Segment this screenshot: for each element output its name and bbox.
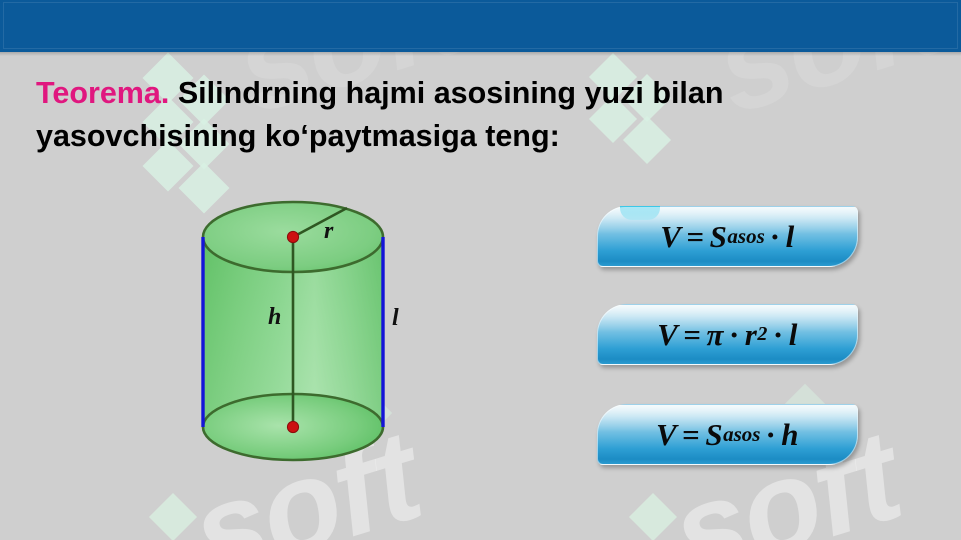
cylinder-svg [180,185,420,485]
formula-text-1: V = Sasos · l [598,207,857,266]
formula-1-base: S [710,219,728,255]
title-bar-inner-border [3,2,958,49]
cylinder-diagram: r h l [180,185,420,485]
formula-text-3: V = Sasos · h [598,405,857,464]
formula-box-3: V = Sasos · h [597,404,858,465]
formula-1-subscript: asos [727,224,764,249]
radius-label: r [324,218,333,245]
formula-3-subscript: asos [723,422,760,447]
bottom-center-point [287,421,298,432]
formula-3-lhs: V [656,417,677,453]
watermark-diamond [629,493,677,540]
slide-canvas: soft soft soft soft Silindrning hajmi Te… [0,0,961,540]
formula-2-rhs: l [789,317,798,353]
formula-1-rhs: l [786,219,795,255]
formula-2-operator-2: · [768,317,789,353]
formula-2-equals: = [678,317,706,353]
formula-3-base: S [705,417,723,453]
formula-box-2: V = π · r2 · l [597,304,858,365]
title-bar-shadow [0,52,961,56]
formula-2-pi: π [707,317,724,353]
formula-3-rhs: h [781,417,799,453]
theorem-statement: Teorema. Silindrning hajmi asosining yuz… [36,72,946,159]
watermark-diamond [149,493,197,540]
formula-text-2: V = π · r2 · l [598,305,857,364]
formula-2-lhs: V [657,317,678,353]
formula-1-operator: · [765,219,786,255]
formula-box-1: V = Sasos · l [597,206,858,267]
generatrix-label: l [392,305,399,332]
formula-1-lhs: V [660,219,681,255]
formula-2-variable: r [745,317,758,353]
formula-3-operator: · [760,417,781,453]
formula-2-operator-1: · [724,317,745,353]
formula-1-equals: = [681,219,709,255]
formula-2-exponent: 2 [757,323,768,346]
theorem-keyword: Teorema. [36,76,169,110]
title-bar [0,0,961,52]
formula-3-equals: = [677,417,705,453]
height-label: h [268,304,281,331]
top-center-point [287,231,298,242]
